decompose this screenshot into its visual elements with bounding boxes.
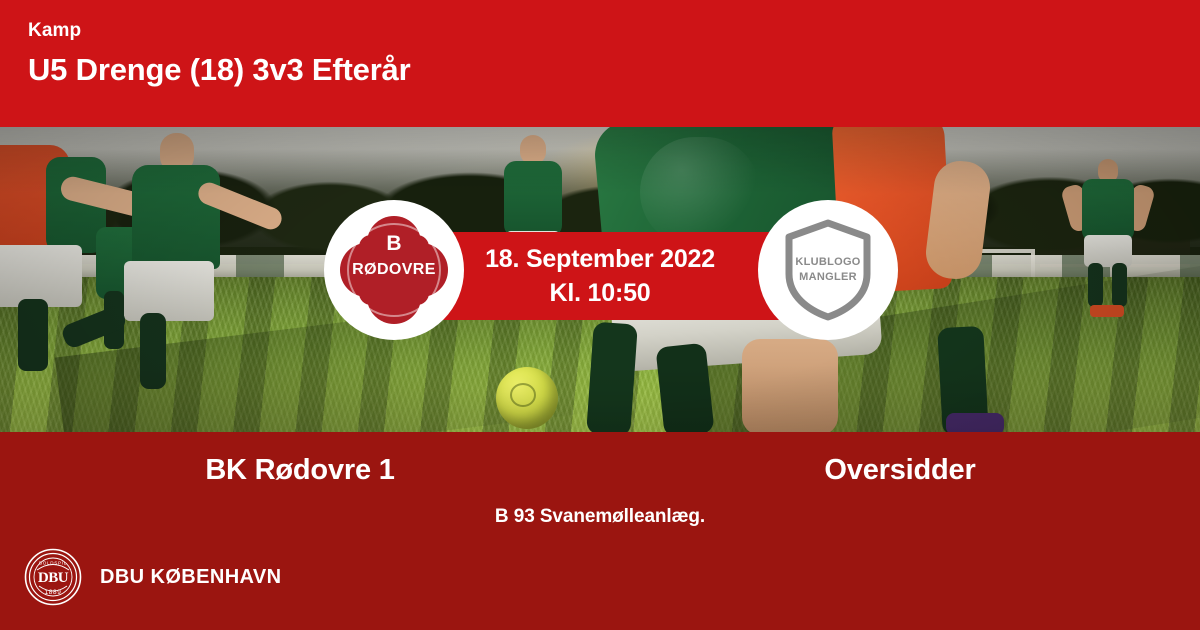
shield-icon: KLUBLOGO MANGLER: [782, 218, 874, 322]
team-names-row: BK Rødovre 1 Oversidder: [0, 450, 1200, 490]
svg-text:BOLDSPIL: BOLDSPIL: [39, 561, 67, 566]
home-team-name: BK Rødovre 1: [0, 450, 600, 490]
poster-header: Kamp U5 Drenge (18) 3v3 Efterår: [0, 0, 1200, 127]
home-club-badge: B RØDOVRE: [324, 200, 464, 340]
away-team-name: Oversidder: [600, 450, 1200, 490]
crest-letter: B: [340, 233, 448, 254]
shield-label: KLUBLOGO MANGLER: [795, 255, 860, 285]
page-title: U5 Drenge (18) 3v3 Efterår: [28, 48, 1200, 92]
match-date: 18. September 2022: [485, 242, 715, 276]
crest-club-name: RØDOVRE: [340, 261, 448, 279]
shield-label-line2: MANGLER: [795, 270, 860, 285]
footer-branding: DBU 1889 BOLDSPIL DBU KØBENHAVN: [24, 548, 282, 606]
shield-label-line1: KLUBLOGO: [795, 255, 860, 270]
bk-rodovre-crest-icon: B RØDOVRE: [340, 216, 448, 324]
svg-text:DBU: DBU: [38, 570, 69, 586]
venue-name: B 93 Svanemølleanlæg.: [0, 504, 1200, 530]
dbu-seal-logo-icon: DBU 1889 BOLDSPIL: [24, 548, 82, 606]
organisation-name: DBU KØBENHAVN: [100, 565, 282, 589]
match-time: Kl. 10:50: [549, 276, 650, 310]
header-eyebrow: Kamp: [28, 18, 1200, 44]
svg-text:1889: 1889: [45, 589, 62, 596]
away-club-badge: KLUBLOGO MANGLER: [758, 200, 898, 340]
match-poster: Kamp U5 Drenge (18) 3v3 Efterår: [0, 0, 1200, 630]
